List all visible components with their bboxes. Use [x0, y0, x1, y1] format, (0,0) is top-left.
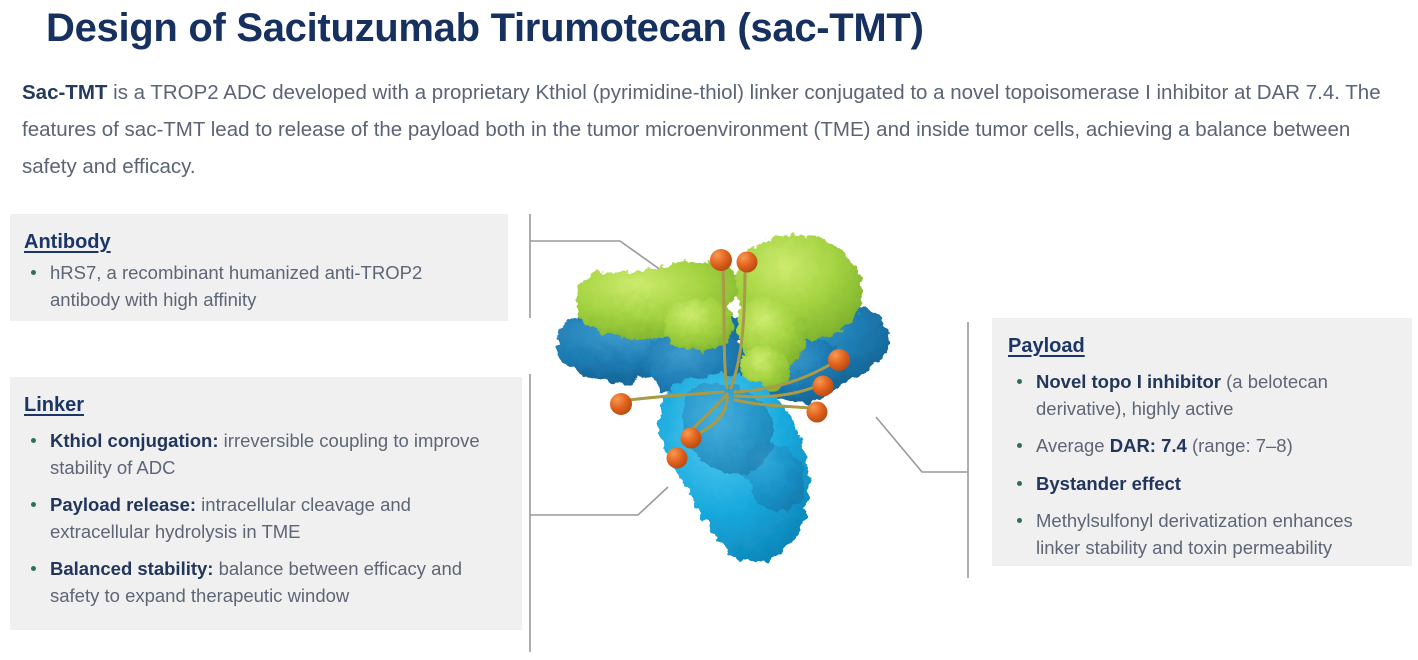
- bullet-label: Payload release:: [50, 494, 196, 515]
- payload-sphere: [807, 402, 828, 423]
- list-item: hRS7, a recombinant humanized anti-TROP2…: [24, 260, 494, 313]
- page-title: Design of Sacituzumab Tirumotecan (sac-T…: [46, 2, 1146, 54]
- intro-paragraph: Sac-TMT is a TROP2 ADC developed with a …: [22, 74, 1402, 185]
- panel-linker-bullets: Kthiol conjugation: irreversible couplin…: [24, 428, 508, 609]
- bullet-dot-icon: [31, 270, 36, 275]
- payload-sphere: [667, 448, 688, 469]
- payload-sphere: [610, 393, 632, 415]
- adc-molecule-svg: [545, 212, 945, 612]
- bullet-dot-icon: [1017, 379, 1022, 384]
- bullet-label: Kthiol conjugation:: [50, 430, 219, 451]
- list-item: Kthiol conjugation: irreversible couplin…: [24, 428, 508, 481]
- bullet-text: Methylsulfonyl derivatization enhances l…: [1036, 510, 1353, 558]
- bullet-label: DAR: 7.4: [1110, 435, 1187, 456]
- panel-payload-bullets: Novel topo I inhibitor (a belotecan deri…: [1008, 369, 1398, 561]
- bullet-dot-icon: [31, 502, 36, 507]
- intro-body: is a TROP2 ADC developed with a propriet…: [22, 81, 1381, 178]
- bullet-dot-icon: [1017, 518, 1022, 523]
- panel-antibody-heading: Antibody: [24, 230, 494, 254]
- panel-payload: Payload Novel topo I inhibitor (a belote…: [992, 318, 1412, 566]
- panel-antibody-bullets: hRS7, a recombinant humanized anti-TROP2…: [24, 260, 494, 313]
- list-item: Novel topo I inhibitor (a belotecan deri…: [1008, 369, 1398, 422]
- fc-region: [660, 374, 810, 562]
- bullet-dot-icon: [31, 566, 36, 571]
- bullet-label: Bystander effect: [1036, 473, 1181, 494]
- bullet-dot-icon: [1017, 443, 1022, 448]
- bullet-label: Balanced stability:: [50, 558, 213, 579]
- payload-sphere: [813, 376, 834, 397]
- payload-sphere: [710, 249, 732, 271]
- intro-lead: Sac-TMT: [22, 81, 107, 104]
- bullet-dot-icon: [1017, 481, 1022, 486]
- bullet-text: hRS7, a recombinant humanized anti-TROP2…: [50, 262, 422, 310]
- list-item: Balanced stability: balance between effi…: [24, 556, 508, 609]
- payload-sphere: [681, 428, 702, 449]
- bullet-label: Novel topo I inhibitor: [1036, 371, 1221, 392]
- bullet-text: (range: 7–8): [1187, 435, 1293, 456]
- panel-antibody: Antibody hRS7, a recombinant humanized a…: [10, 214, 508, 321]
- antibody-structure-figure: [545, 212, 945, 612]
- payload-sphere: [737, 252, 758, 273]
- list-item: Bystander effect: [1008, 471, 1398, 498]
- panel-linker-heading: Linker: [24, 393, 508, 417]
- bullet-prefix: Average: [1036, 435, 1110, 456]
- panel-linker: Linker Kthiol conjugation: irreversible …: [10, 377, 522, 630]
- list-item: Payload release: intracellular cleavage …: [24, 492, 508, 545]
- payload-sphere: [828, 349, 850, 371]
- list-item: Average DAR: 7.4 (range: 7–8): [1008, 433, 1398, 460]
- list-item: Methylsulfonyl derivatization enhances l…: [1008, 508, 1398, 561]
- panel-payload-heading: Payload: [1008, 334, 1398, 358]
- bullet-dot-icon: [31, 438, 36, 443]
